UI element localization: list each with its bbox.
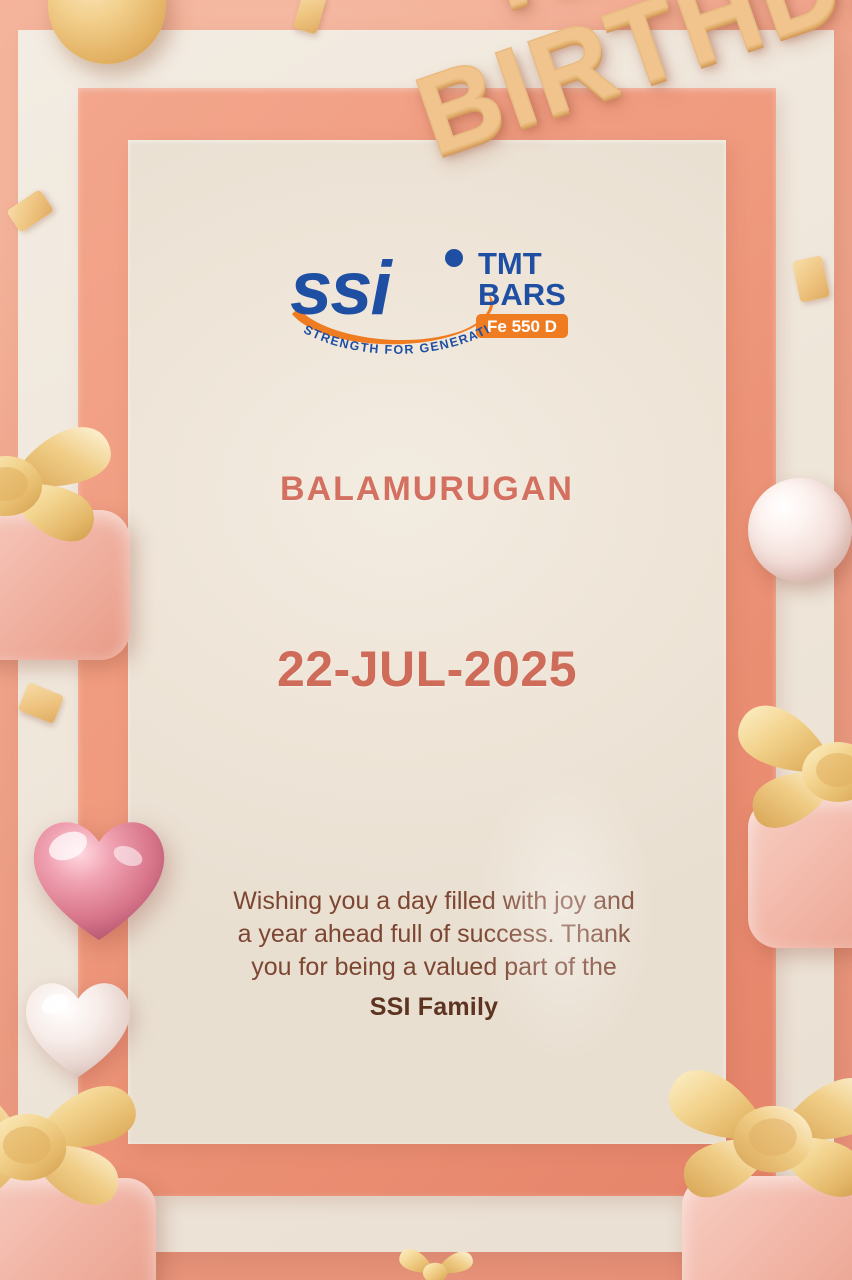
ssi-logo: ssi TMT BARS Fe 550 D STRENGTH FOR GENER… xyxy=(282,240,572,375)
message-line-3: you for being a valued part of the xyxy=(156,951,712,984)
logo-product-line2: BARS xyxy=(478,277,566,312)
card-inner-panel: ssi TMT BARS Fe 550 D STRENGTH FOR GENER… xyxy=(128,140,726,1144)
logo-i-dot xyxy=(445,249,463,267)
logo-product-line1: TMT xyxy=(478,246,542,281)
headline-line-1: HAPPY xyxy=(474,0,852,25)
message-line-2: a year ahead full of success. Thank xyxy=(156,918,712,951)
white-heart-icon xyxy=(18,975,138,1083)
message-signature: SSI Family xyxy=(156,993,712,1022)
ssi-logo-graphic: ssi TMT BARS Fe 550 D STRENGTH FOR GENER… xyxy=(282,240,572,375)
recipient-name: BALAMURUGAN xyxy=(128,470,726,509)
greeting-message: Wishing you a day filled with joy and a … xyxy=(156,885,712,1022)
pink-heart-icon xyxy=(24,812,174,947)
message-line-1: Wishing you a day filled with joy and xyxy=(156,885,712,918)
event-date: 22-JUL-2025 xyxy=(128,640,726,698)
logo-grade-badge-text: Fe 550 D xyxy=(487,317,557,336)
logo-wordmark: ssi xyxy=(290,246,394,331)
greeting-card-canvas: ssi TMT BARS Fe 550 D STRENGTH FOR GENER… xyxy=(0,0,852,1280)
pearl-sphere-icon xyxy=(748,478,852,582)
